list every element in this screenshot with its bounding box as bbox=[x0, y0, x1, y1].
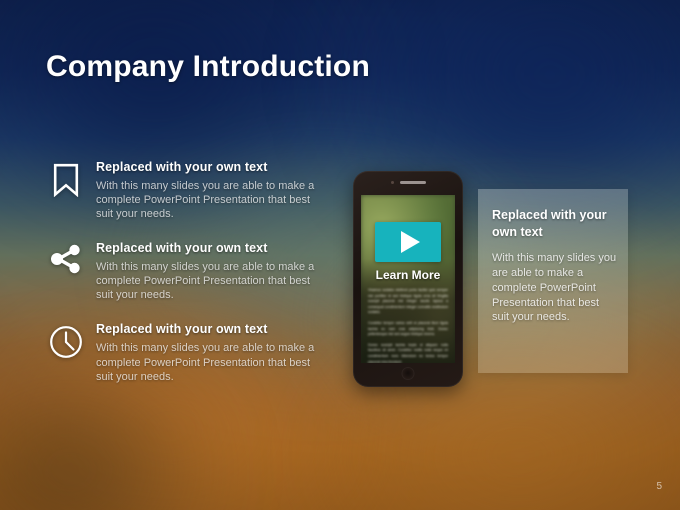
feature-list: Replaced with your own text With this ma… bbox=[44, 160, 316, 384]
panel-heading: Replaced with your own text bbox=[492, 207, 616, 241]
presentation-slide: Company Introduction Replaced with your … bbox=[0, 0, 680, 510]
screen-paragraph: Vivamus sodales eleifend porta facilisi … bbox=[368, 288, 448, 316]
front-camera-icon bbox=[391, 181, 394, 184]
clock-icon bbox=[44, 322, 88, 368]
home-button[interactable] bbox=[403, 368, 414, 379]
play-button[interactable] bbox=[375, 222, 441, 262]
feature-heading: Replaced with your own text bbox=[96, 241, 316, 255]
screen-paragraph: Donec suscipit lacinia turpis ut aliquam… bbox=[368, 343, 448, 363]
feature-item: Replaced with your own text With this ma… bbox=[44, 160, 316, 221]
info-panel: Replaced with your own text With this ma… bbox=[478, 189, 628, 373]
feature-heading: Replaced with your own text bbox=[96, 322, 316, 336]
feature-item: Replaced with your own text With this ma… bbox=[44, 241, 316, 302]
feature-text: Replaced with your own text With this ma… bbox=[88, 241, 316, 302]
panel-body: With this many slides you are able to ma… bbox=[492, 251, 618, 325]
feature-body: With this many slides you are able to ma… bbox=[96, 341, 316, 383]
screen-body-copy: Vivamus sodales eleifend porta facilisi … bbox=[368, 288, 448, 363]
learn-more-caption: Learn More bbox=[361, 268, 455, 282]
share-icon bbox=[44, 241, 88, 287]
bookmark-icon bbox=[44, 160, 88, 206]
feature-body: With this many slides you are able to ma… bbox=[96, 260, 316, 302]
phone-screen[interactable]: Learn More Vivamus sodales eleifend port… bbox=[361, 195, 455, 363]
feature-body: With this many slides you are able to ma… bbox=[96, 179, 316, 221]
feature-text: Replaced with your own text With this ma… bbox=[88, 322, 316, 383]
smartphone-mockup: Learn More Vivamus sodales eleifend port… bbox=[353, 171, 463, 387]
screen-paragraph: Curabitur tempor varius velit ut placera… bbox=[368, 321, 448, 338]
earpiece-speaker bbox=[400, 181, 426, 184]
page-title: Company Introduction bbox=[46, 50, 370, 84]
feature-text: Replaced with your own text With this ma… bbox=[88, 160, 316, 221]
feature-heading: Replaced with your own text bbox=[96, 160, 316, 174]
page-number: 5 bbox=[656, 481, 662, 492]
feature-item: Replaced with your own text With this ma… bbox=[44, 322, 316, 383]
play-triangle-icon bbox=[401, 231, 420, 253]
